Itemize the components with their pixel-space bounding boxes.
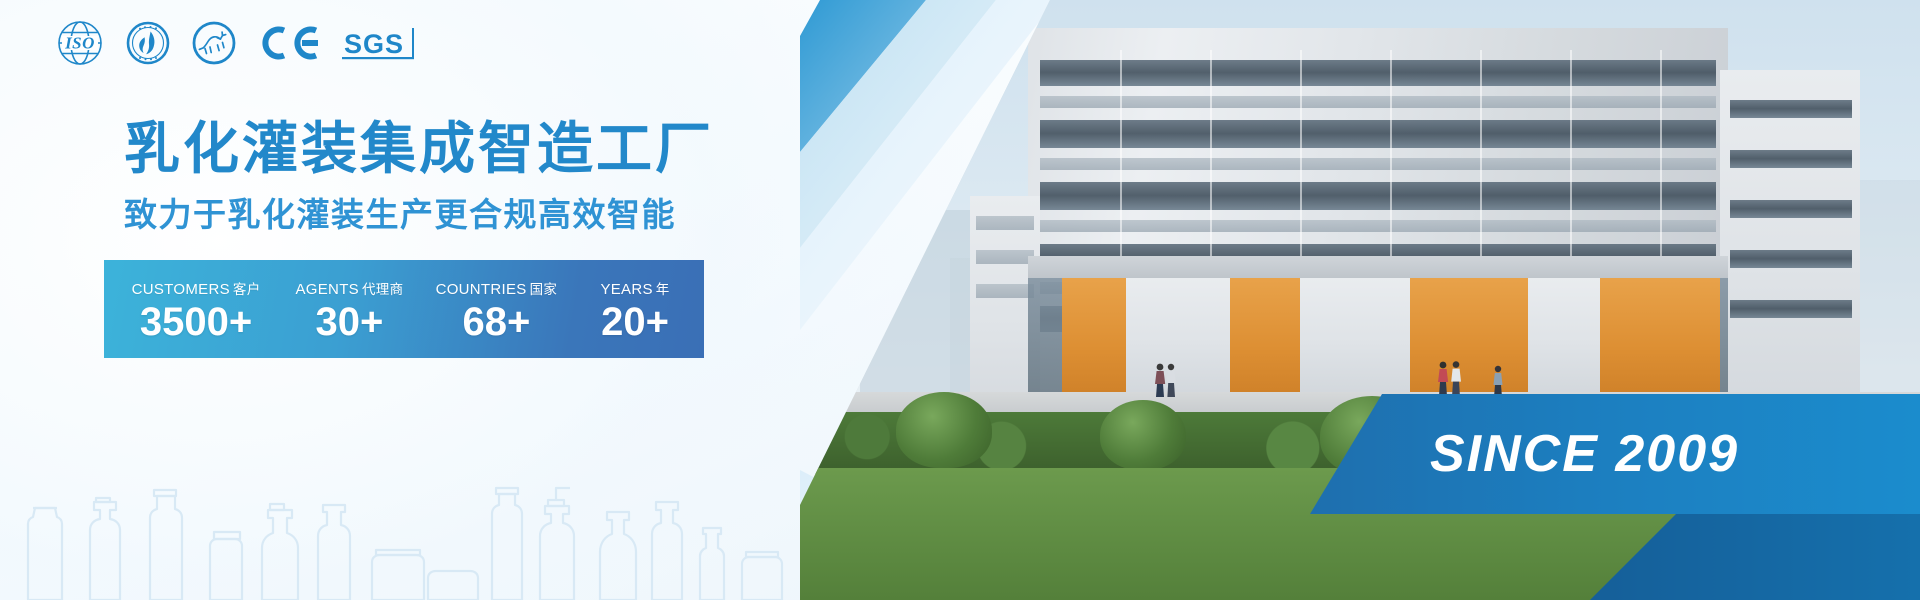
stat-label-cn: 年 [656, 282, 670, 297]
shrub [896, 392, 992, 468]
window-band [1040, 96, 1716, 108]
stat-label-en: COUNTRIES [436, 281, 527, 298]
window-band [1040, 182, 1716, 210]
window-band [976, 216, 1034, 230]
stats-panel: CUSTOMERS客户 3500+ AGENTS代理商 30+ COUNTRIE… [104, 260, 704, 358]
podium [1028, 256, 1728, 278]
factory-photo-composition: SINCE 2009 [800, 0, 1920, 600]
window-band [1040, 60, 1716, 86]
stat-value: 30+ [316, 302, 384, 342]
stat-countries: COUNTRIES国家 68+ [419, 260, 574, 358]
stat-label-en: AGENTS [295, 281, 358, 298]
certification-logos: ISO [56, 16, 420, 70]
orange-panel [1600, 278, 1720, 396]
stat-value: 3500+ [140, 302, 252, 342]
sgs-logo: SGS [342, 20, 420, 66]
stat-label: CUSTOMERS客户 [132, 278, 261, 298]
orange-panel [1230, 278, 1300, 396]
stat-customers: CUSTOMERS客户 3500+ [112, 260, 280, 358]
person [1490, 364, 1506, 398]
stat-label: AGENTS代理商 [295, 278, 403, 298]
window-band [1730, 200, 1852, 218]
svg-text:SGS: SGS [344, 29, 404, 59]
stat-label-en: CUSTOMERS [132, 281, 230, 298]
person [1436, 360, 1464, 398]
orange-panel [1062, 278, 1126, 396]
orange-panel [1410, 278, 1528, 396]
window-band [976, 250, 1034, 264]
svg-text:ISO: ISO [64, 34, 95, 53]
cqc-logo [126, 21, 170, 65]
since-badge: SINCE 2009 [1310, 394, 1920, 514]
column [1528, 278, 1600, 396]
stat-value: 20+ [601, 302, 669, 342]
stat-label-en: YEARS [600, 281, 652, 298]
person [1152, 362, 1178, 398]
since-badge-label: SINCE 2009 [1430, 424, 1739, 484]
window-band [1040, 220, 1716, 232]
page-title: 乳化灌装集成智造工厂 [124, 118, 714, 181]
bottle-silhouettes [0, 470, 880, 600]
stat-label-cn: 代理商 [362, 282, 403, 297]
gmp-logo [192, 21, 236, 65]
stat-label-cn: 国家 [530, 282, 558, 297]
window-band [1040, 158, 1716, 170]
ce-logo [258, 21, 320, 65]
window-band [1730, 150, 1852, 168]
window-band [976, 284, 1034, 298]
column [1300, 278, 1410, 396]
stat-agents: AGENTS代理商 30+ [280, 260, 419, 358]
window-band [1730, 250, 1852, 268]
stat-label-cn: 客户 [233, 282, 261, 297]
window-band [1730, 100, 1852, 118]
stat-label: YEARS年 [600, 278, 669, 298]
promo-banner: ISO [0, 0, 1920, 600]
stat-years: YEARS年 20+ [574, 260, 696, 358]
headline-block: 乳化灌装集成智造工厂 致力于乳化灌装生产更合规高效智能 [124, 118, 714, 234]
window-band [1040, 120, 1716, 148]
stat-value: 68+ [462, 302, 530, 342]
page-subtitle: 致力于乳化灌装生产更合规高效智能 [124, 195, 714, 235]
iso-logo: ISO [56, 19, 104, 67]
stat-label: COUNTRIES国家 [436, 278, 558, 298]
shrub [1100, 400, 1186, 470]
window-band [1730, 300, 1852, 318]
column [1126, 278, 1230, 396]
